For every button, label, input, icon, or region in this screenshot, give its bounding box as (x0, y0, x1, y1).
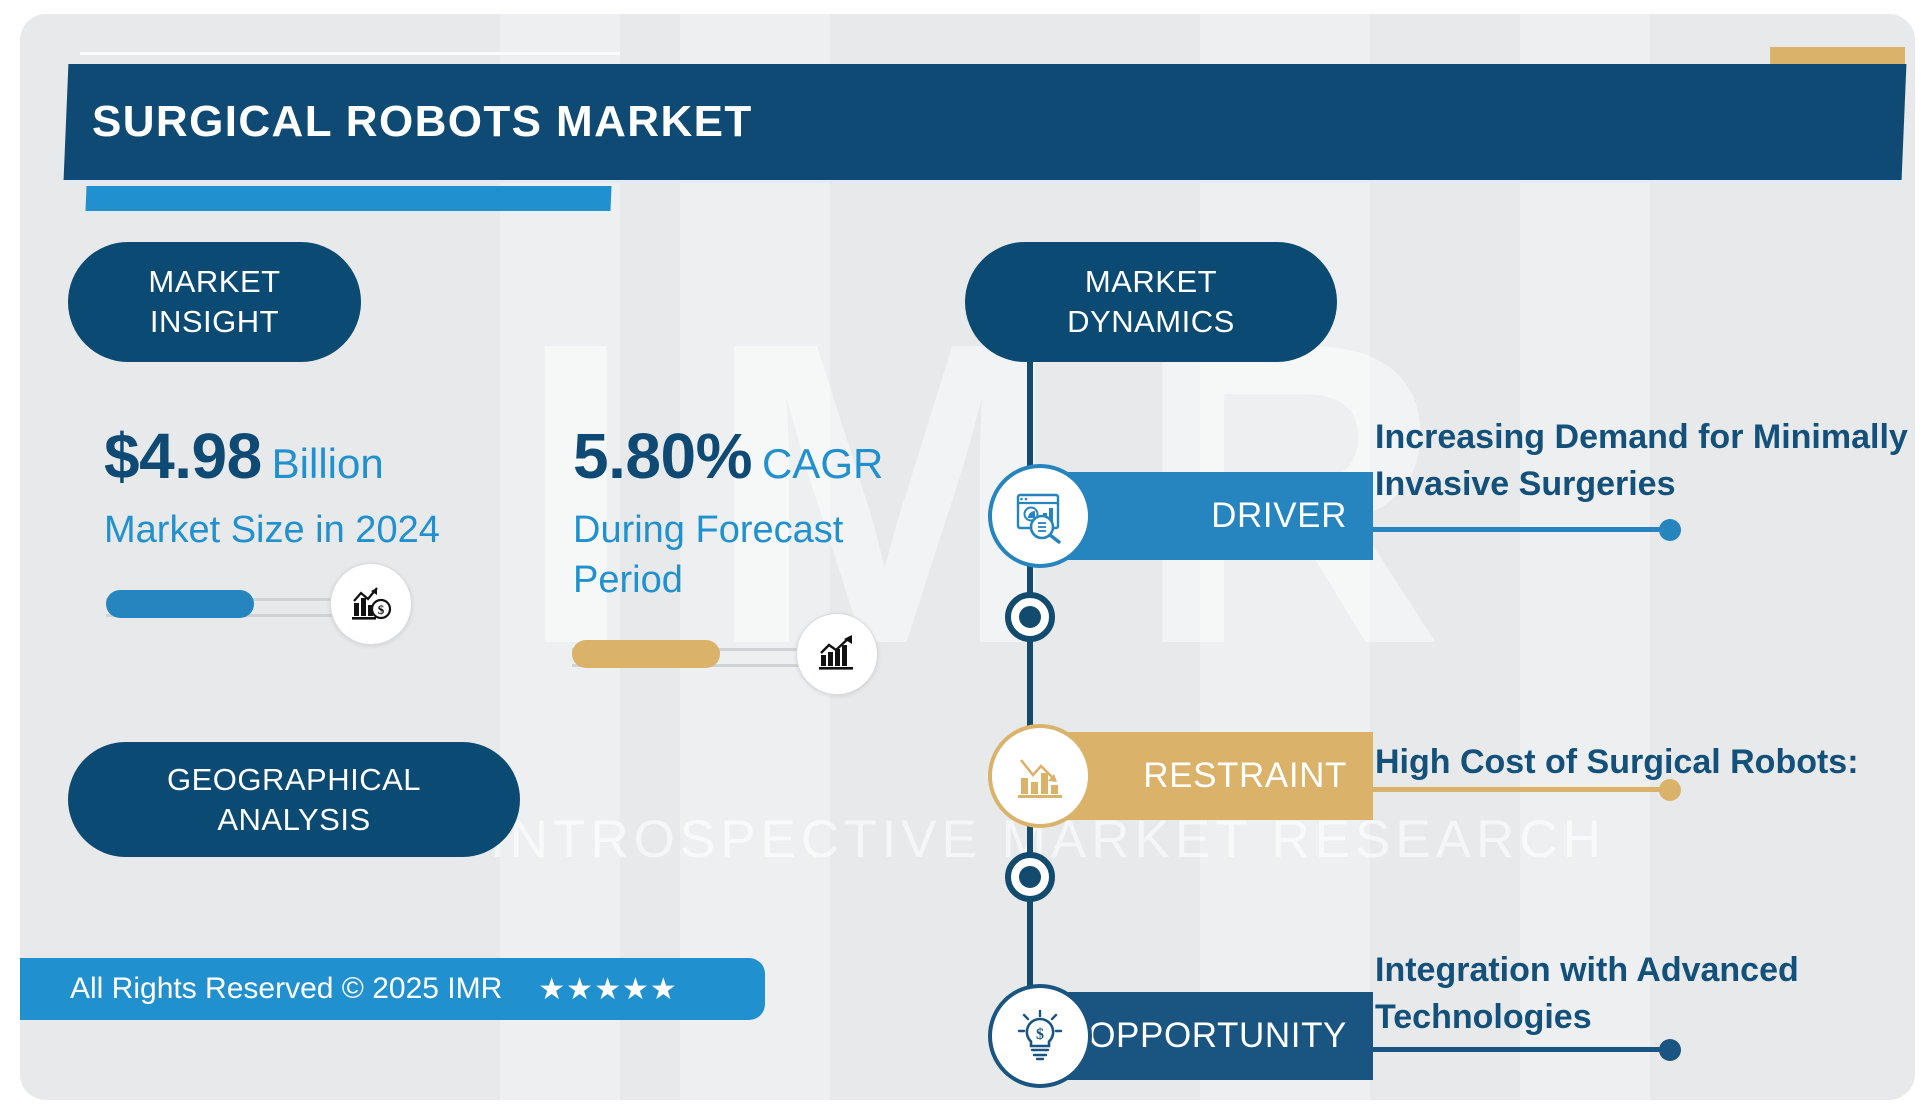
page-title: SURGICAL ROBOTS MARKET (92, 97, 753, 147)
analytics-magnifier-icon (988, 464, 1092, 568)
footer-bar: All Rights Reserved © 2025 IMR ★★★★★ (20, 958, 765, 1020)
market-insight-pill-line2: INSIGHT (150, 302, 279, 342)
opportunity-label-box: OPPORTUNITY (1043, 992, 1373, 1080)
infographic-card: IMR INTROSPECTIVE MARKET RESEARCH SURGIC… (20, 14, 1915, 1100)
market-size-headline: $4.98Billion (104, 419, 534, 493)
cagr-stat: 5.80%CAGR During Forecast Period (573, 419, 993, 605)
restraint-description-line1: High Cost of Surgical Robots: (1375, 739, 1915, 786)
market-size-stat: $4.98Billion Market Size in 2024 (104, 419, 534, 555)
driver-leader-dot (1659, 519, 1681, 541)
market-size-unit: Billion (272, 440, 384, 487)
cagr-unit: CAGR (762, 440, 883, 487)
opportunity-leader-line (1357, 1047, 1672, 1052)
geographical-analysis-pill[interactable]: GEOGRAPHICAL ANALYSIS (68, 742, 520, 857)
timeline-node-2 (1005, 852, 1055, 902)
market-size-progress-fill (106, 590, 254, 618)
market-dynamics-pill[interactable]: MARKET DYNAMICS (965, 242, 1337, 362)
driver-description-line2: Invasive Surgeries (1375, 461, 1915, 508)
lightbulb-dollar-icon: $ (988, 984, 1092, 1088)
cagr-progress-fill (572, 640, 720, 668)
timeline-node-1 (1005, 592, 1055, 642)
header-blue-strip (85, 186, 611, 211)
bar-chart-dollar-icon: $ (330, 563, 412, 645)
cagr-caption-line1: During Forecast (573, 505, 993, 555)
market-dynamics-pill-line1: MARKET (1085, 262, 1217, 302)
opportunity-description-line2: Technologies (1375, 994, 1915, 1041)
driver-label: DRIVER (1211, 496, 1347, 536)
declining-bar-chart-icon (988, 724, 1092, 828)
header-title-wrap: SURGICAL ROBOTS MARKET (66, 64, 1904, 180)
market-dynamics-pill-line2: DYNAMICS (1067, 302, 1235, 342)
infographic-canvas: IMR INTROSPECTIVE MARKET RESEARCH SURGIC… (0, 0, 1930, 1114)
driver-leader-line (1357, 527, 1672, 532)
geographical-pill-line2: ANALYSIS (217, 800, 370, 840)
opportunity-description-line1: Integration with Advanced (1375, 947, 1915, 994)
svg-text:$: $ (378, 602, 385, 617)
growth-chart-arrow-icon (796, 613, 878, 695)
cagr-caption-line2: Period (573, 555, 993, 605)
cagr-value: 5.80% (573, 420, 752, 492)
opportunity-description: Integration with Advanced Technologies (1375, 947, 1915, 1041)
opportunity-label: OPPORTUNITY (1088, 1016, 1347, 1056)
market-size-caption: Market Size in 2024 (104, 505, 534, 555)
driver-description-line1: Increasing Demand for Minimally (1375, 414, 1915, 461)
header-rule (80, 52, 620, 55)
restraint-label: RESTRAINT (1143, 756, 1347, 796)
restraint-leader-dot (1659, 779, 1681, 801)
geographical-pill-line1: GEOGRAPHICAL (167, 760, 421, 800)
market-insight-pill[interactable]: MARKET INSIGHT (68, 242, 361, 362)
opportunity-leader-dot (1659, 1039, 1681, 1061)
header-underline (66, 180, 1904, 183)
cagr-caption: During Forecast Period (573, 505, 993, 605)
restraint-description: High Cost of Surgical Robots: (1375, 739, 1915, 786)
restraint-label-box: RESTRAINT (1043, 732, 1373, 820)
svg-text:$: $ (1036, 1026, 1044, 1043)
market-size-value: $4.98 (104, 420, 262, 492)
restraint-leader-line (1357, 787, 1672, 792)
driver-description: Increasing Demand for Minimally Invasive… (1375, 414, 1915, 508)
market-insight-pill-line1: MARKET (148, 262, 280, 302)
cagr-headline: 5.80%CAGR (573, 419, 993, 493)
copyright-text: All Rights Reserved © 2025 IMR (70, 972, 502, 1006)
rating-stars-icon: ★★★★★ (538, 972, 677, 1007)
driver-label-box: DRIVER (1043, 472, 1373, 560)
header-gold-accent (1770, 47, 1905, 65)
